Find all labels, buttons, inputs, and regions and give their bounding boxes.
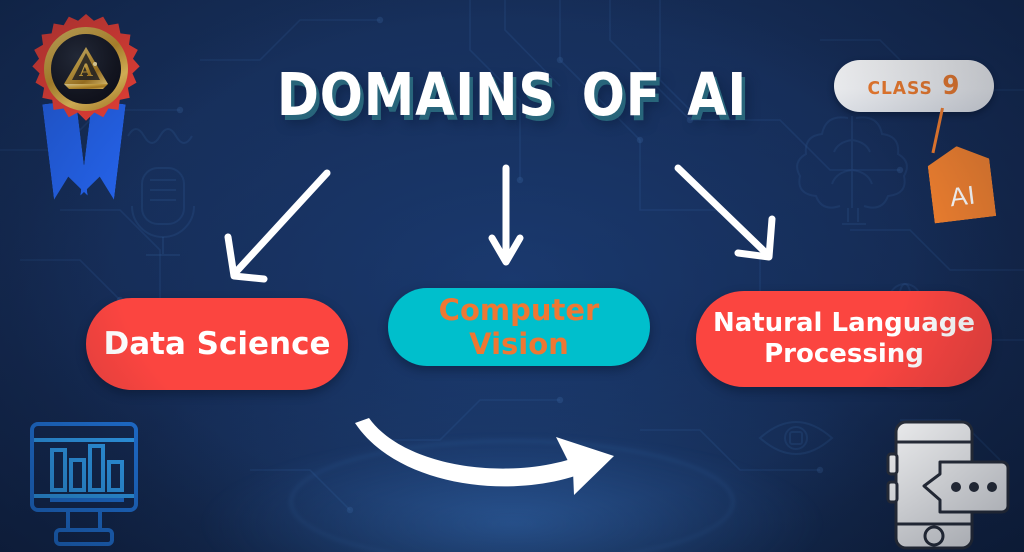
- class-badge-label: Class 9: [868, 71, 961, 101]
- domain-pill-data-science[interactable]: Data Science: [86, 298, 348, 390]
- class-badge: Class 9: [834, 60, 994, 112]
- domain-label-computer-vision: Computer Vision: [388, 293, 650, 361]
- domain-pill-natural-language-processing[interactable]: Natural Language Processing: [696, 291, 992, 387]
- domain-pill-computer-vision[interactable]: Computer Vision: [388, 288, 650, 366]
- eye-icon: [760, 422, 832, 454]
- domain-label-nlp-line2: Processing: [764, 339, 924, 370]
- smartphone-chat-icon: [872, 418, 1012, 552]
- monitor-bar-chart-icon: [18, 418, 146, 552]
- domain-label-data-science: Data Science: [103, 326, 330, 362]
- page-title: Domains of AI: [72, 44, 953, 128]
- domain-label-nlp-line1: Natural Language: [713, 308, 975, 339]
- price-tag-body: AI: [926, 142, 997, 223]
- infographic-canvas: A Domains of AI Class 9 AI: [0, 0, 1024, 552]
- ai-tag-label: AI: [930, 177, 995, 215]
- ai-price-tag-icon: AI: [926, 142, 997, 223]
